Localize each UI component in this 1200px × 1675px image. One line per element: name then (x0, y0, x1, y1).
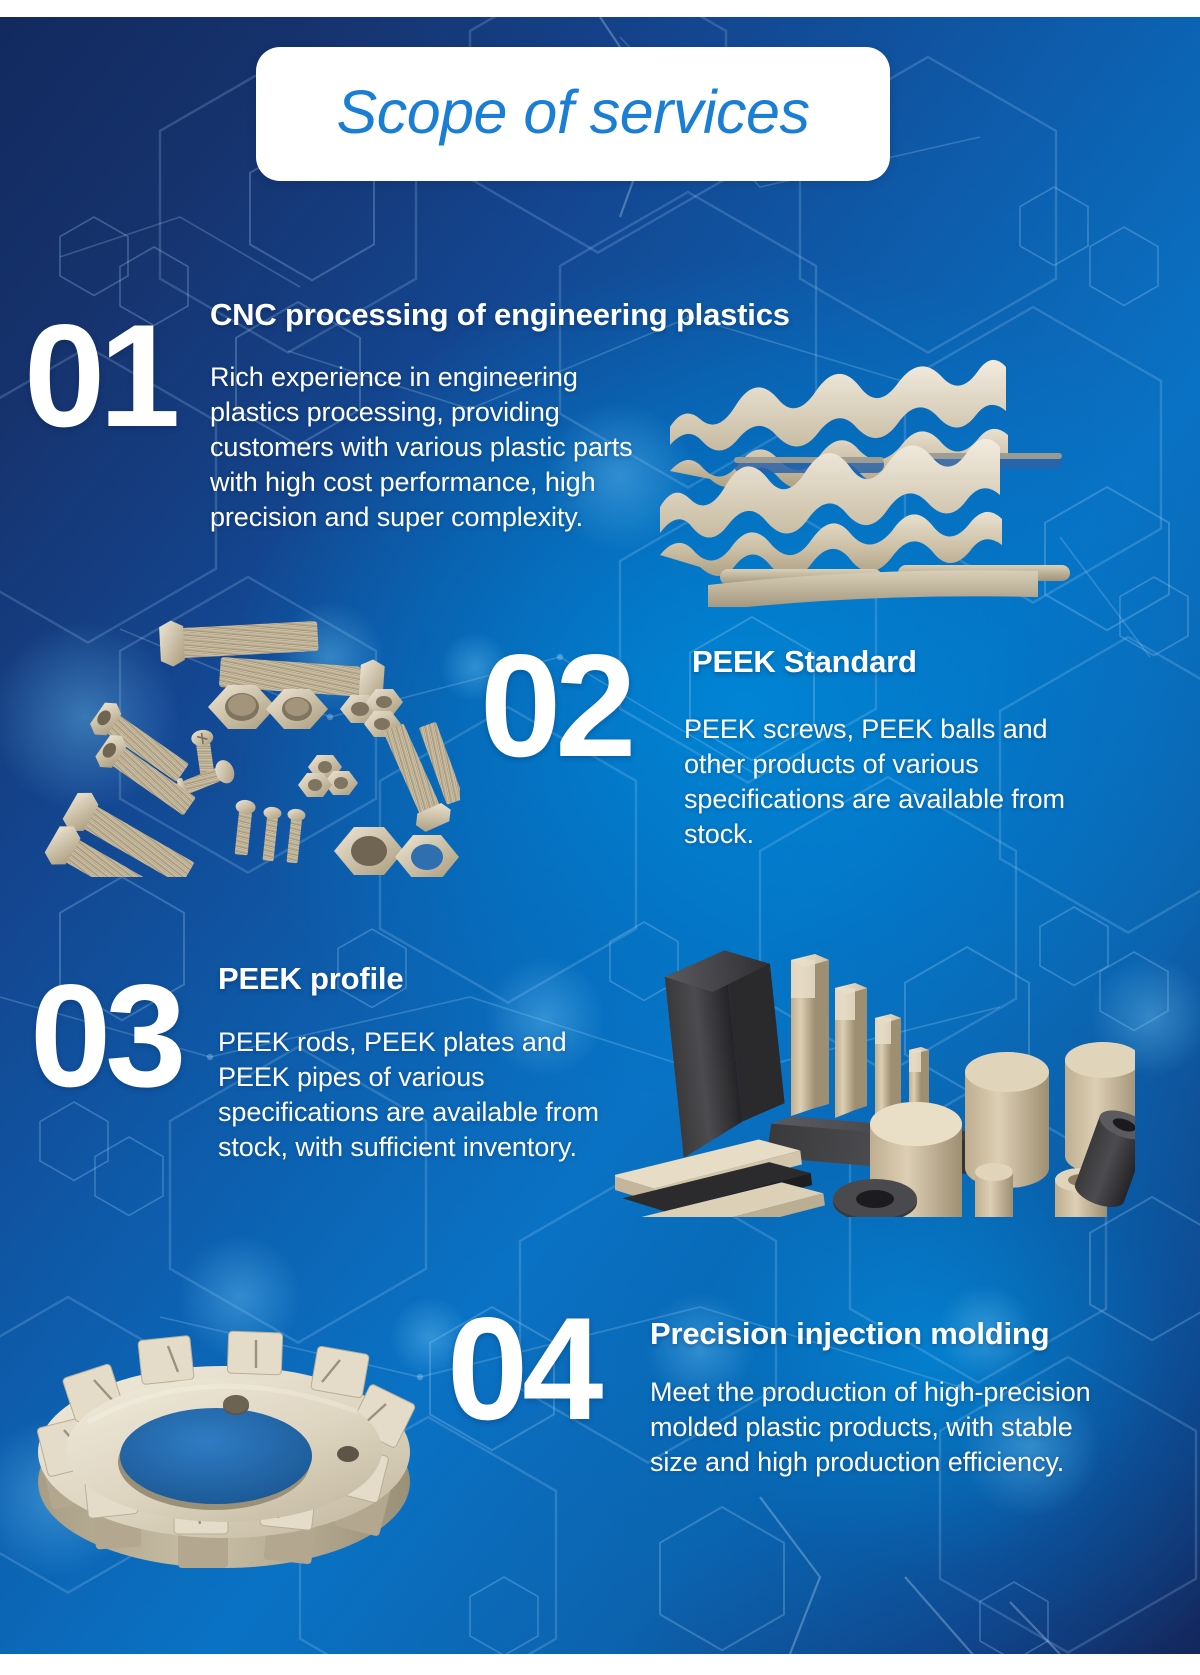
service-body-01: Rich experience in engineering plastics … (210, 360, 655, 535)
poster-canvas: Scope of services (0, 17, 1200, 1654)
service-heading-04: Precision injection molding (650, 1317, 1120, 1351)
service-number-03: 03 (30, 972, 180, 1100)
page-title: Scope of services (256, 47, 890, 181)
peek-screws-bolts-nuts-image (40, 567, 460, 877)
bottom-letterbox (0, 1654, 1200, 1675)
service-number-01: 01 (24, 312, 174, 440)
service-body-02: PEEK screws, PEEK balls and other produc… (684, 712, 1114, 852)
peek-molded-slotted-ring-image (28, 1272, 448, 1572)
peek-rods-plates-tubes-image (615, 912, 1135, 1217)
service-heading-03: PEEK profile (218, 962, 638, 996)
service-body-03: PEEK rods, PEEK plates and PEEK pipes of… (218, 1025, 618, 1165)
page-title-text: Scope of services (337, 82, 810, 143)
service-number-02: 02 (480, 642, 630, 770)
top-letterbox (0, 0, 1200, 17)
service-body-04: Meet the production of high-precision mo… (650, 1375, 1100, 1480)
service-heading-01: CNC processing of engineering plastics (210, 298, 1010, 332)
service-heading-02: PEEK Standard (692, 645, 1112, 679)
service-number-04: 04 (447, 1305, 597, 1433)
cnc-machined-peek-wave-part-image (650, 317, 1170, 607)
